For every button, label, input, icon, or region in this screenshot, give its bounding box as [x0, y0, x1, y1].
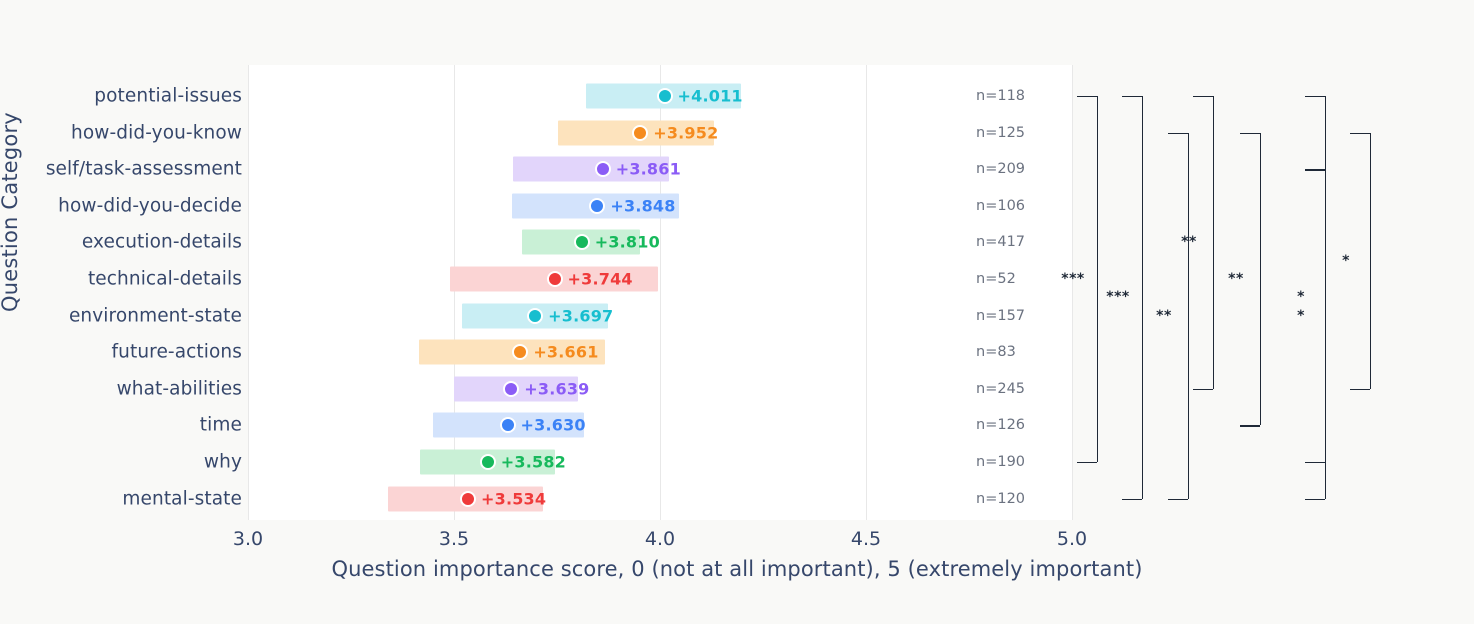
- chart-figure: Question Category Question importance sc…: [0, 0, 1474, 624]
- significance-stars: ***: [1061, 271, 1084, 287]
- value-label: +3.630: [521, 416, 586, 435]
- x-tick-label: 3.0: [233, 528, 263, 550]
- sample-size-label: n=83: [976, 344, 1016, 360]
- value-label: +3.661: [533, 343, 598, 362]
- data-point-marker: [574, 234, 590, 250]
- bracket-tick-end: [1122, 499, 1142, 500]
- bracket-tick-end: [1350, 389, 1370, 390]
- category-label-time: time: [200, 415, 242, 436]
- data-point-marker: [512, 344, 528, 360]
- x-tick-label: 4.0: [645, 528, 675, 550]
- significance-stars: **: [1228, 271, 1244, 287]
- bracket-tick-start: [1077, 96, 1097, 97]
- data-point-marker: [480, 454, 496, 470]
- value-label: +3.810: [595, 233, 660, 252]
- category-label-execution-details: execution-details: [82, 232, 242, 253]
- category-label-how-did-you-decide: how-did-you-decide: [58, 195, 242, 216]
- data-point-marker: [632, 125, 648, 141]
- bracket-tick-end: [1193, 389, 1213, 390]
- sample-size-label: n=106: [976, 198, 1025, 214]
- bracket-tick-end: [1305, 499, 1325, 500]
- category-label-how-did-you-know: how-did-you-know: [71, 122, 242, 143]
- data-point-marker: [595, 161, 611, 177]
- category-label-mental-state: mental-state: [122, 488, 242, 509]
- category-label-future-actions: future-actions: [112, 342, 242, 363]
- sample-size-label: n=190: [976, 454, 1025, 470]
- y-axis-title: Question Category: [0, 112, 22, 312]
- gridline-4.5: [866, 65, 867, 520]
- category-label-self-task-assessment: self/task-assessment: [46, 159, 242, 180]
- value-label: +4.011: [678, 87, 743, 106]
- significance-stars: *: [1297, 289, 1305, 305]
- sample-size-label: n=125: [976, 125, 1025, 141]
- bracket-spine: [1260, 133, 1261, 426]
- sample-size-label: n=245: [976, 381, 1025, 397]
- data-point-marker: [503, 381, 519, 397]
- value-label: +3.861: [616, 160, 681, 179]
- sample-size-label: n=118: [976, 88, 1025, 104]
- bracket-tick-start: [1305, 96, 1325, 97]
- value-label: +3.639: [524, 379, 589, 398]
- data-point-marker: [589, 198, 605, 214]
- gridline-3.0: [248, 65, 249, 520]
- bracket-spine: [1325, 169, 1326, 462]
- sample-size-label: n=417: [976, 234, 1025, 250]
- bracket-tick-end: [1077, 462, 1097, 463]
- category-label-potential-issues: potential-issues: [94, 86, 242, 107]
- bracket-tick-end: [1305, 462, 1325, 463]
- sample-size-label: n=157: [976, 308, 1025, 324]
- bracket-tick-start: [1305, 169, 1325, 170]
- bracket-tick-end: [1168, 499, 1188, 500]
- gridline-5.0: [1072, 65, 1073, 520]
- bracket-tick-start: [1168, 133, 1188, 134]
- bracket-spine: [1213, 96, 1214, 389]
- sample-size-label: n=120: [976, 491, 1025, 507]
- sample-size-label: n=209: [976, 161, 1025, 177]
- significance-stars: *: [1342, 253, 1350, 269]
- bracket-spine: [1370, 133, 1371, 389]
- value-label: +3.744: [568, 270, 633, 289]
- bracket-tick-start: [1122, 96, 1142, 97]
- category-label-why: why: [204, 452, 242, 473]
- category-label-environment-state: environment-state: [69, 305, 242, 326]
- category-label-what-abilities: what-abilities: [117, 378, 242, 399]
- value-label: +3.697: [548, 306, 613, 325]
- value-label: +3.534: [481, 489, 546, 508]
- bracket-spine: [1188, 133, 1189, 499]
- bracket-tick-start: [1193, 96, 1213, 97]
- data-point-marker: [657, 88, 673, 104]
- x-tick-label: 3.5: [439, 528, 469, 550]
- x-tick-label: 4.5: [851, 528, 881, 550]
- category-label-technical-details: technical-details: [88, 269, 242, 290]
- significance-stars: ***: [1106, 289, 1129, 305]
- x-axis-title: Question importance score, 0 (not at all…: [0, 557, 1474, 581]
- significance-stars: *: [1297, 308, 1305, 324]
- value-label: +3.952: [653, 123, 718, 142]
- sample-size-label: n=52: [976, 271, 1016, 287]
- sample-size-label: n=126: [976, 417, 1025, 433]
- bracket-tick-end: [1240, 425, 1260, 426]
- data-point-marker: [500, 417, 516, 433]
- bracket-tick-start: [1350, 133, 1370, 134]
- x-tick-label: 5.0: [1057, 528, 1087, 550]
- bracket-spine: [1097, 96, 1098, 462]
- significance-stars: **: [1181, 234, 1197, 250]
- value-label: +3.848: [610, 196, 675, 215]
- significance-stars: **: [1156, 308, 1172, 324]
- bracket-spine: [1142, 96, 1143, 499]
- data-point-marker: [547, 271, 563, 287]
- value-label: +3.582: [501, 453, 566, 472]
- bracket-tick-start: [1240, 133, 1260, 134]
- data-point-marker: [460, 491, 476, 507]
- data-point-marker: [527, 308, 543, 324]
